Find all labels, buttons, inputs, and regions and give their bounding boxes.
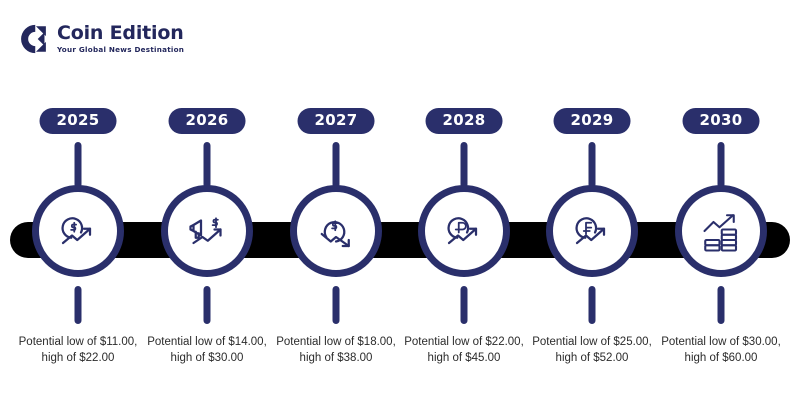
connector-stem-top bbox=[718, 142, 725, 188]
node-caption: Potential low of $18.00, high of $38.00 bbox=[275, 334, 397, 366]
node-caption: Potential low of $14.00, high of $30.00 bbox=[146, 334, 268, 366]
year-badge: 2027 bbox=[298, 108, 375, 134]
timeline-node-circle bbox=[290, 185, 382, 277]
timeline-node-circle bbox=[546, 185, 638, 277]
year-badge: 2030 bbox=[683, 108, 760, 134]
connector-stem-top bbox=[75, 142, 82, 188]
year-badge: 2026 bbox=[169, 108, 246, 134]
timeline-node-2027[interactable]: 2027 Potential low of $18.00, high of $3… bbox=[272, 0, 400, 413]
timeline-node-circle bbox=[418, 185, 510, 277]
timeline-node-2029[interactable]: 2029 Potential low of $25.00, high of $5… bbox=[528, 0, 656, 413]
ruble-circle-up-arrow-icon bbox=[440, 207, 488, 255]
coin-stacks-up-arrow-icon bbox=[697, 207, 745, 255]
node-caption: Potential low of $25.00, high of $52.00 bbox=[531, 334, 653, 366]
dollar-circle-down-arrow-icon bbox=[312, 207, 360, 255]
timeline-node-2028[interactable]: 2028 Potential low of $22.00, high of $4… bbox=[400, 0, 528, 413]
timeline-node-circle bbox=[32, 185, 124, 277]
connector-stem-bottom bbox=[204, 286, 211, 324]
year-badge: 2029 bbox=[554, 108, 631, 134]
megaphone-dollar-up-arrow-icon bbox=[183, 207, 231, 255]
node-caption: Potential low of $30.00, high of $60.00 bbox=[660, 334, 782, 366]
timeline-node-2030[interactable]: 2030 Potential low of $30.00, high of $6… bbox=[657, 0, 785, 413]
dollar-circle-up-arrow-icon bbox=[54, 207, 102, 255]
connector-stem-top bbox=[333, 142, 340, 188]
price-prediction-timeline: 2025 Potential low of $11.00, high of $2… bbox=[0, 0, 800, 413]
year-badge: 2025 bbox=[40, 108, 117, 134]
node-caption: Potential low of $11.00, high of $22.00 bbox=[17, 334, 139, 366]
connector-stem-bottom bbox=[718, 286, 725, 324]
franc-circle-up-arrow-icon bbox=[568, 207, 616, 255]
timeline-node-2026[interactable]: 2026 Potential low of $14.00, high of $3… bbox=[143, 0, 271, 413]
connector-stem-bottom bbox=[461, 286, 468, 324]
timeline-node-2025[interactable]: 2025 Potential low of $11.00, high of $2… bbox=[14, 0, 142, 413]
timeline-node-circle bbox=[675, 185, 767, 277]
year-badge: 2028 bbox=[426, 108, 503, 134]
connector-stem-bottom bbox=[75, 286, 82, 324]
connector-stem-bottom bbox=[333, 286, 340, 324]
timeline-node-circle bbox=[161, 185, 253, 277]
connector-stem-top bbox=[461, 142, 468, 188]
node-caption: Potential low of $22.00, high of $45.00 bbox=[403, 334, 525, 366]
connector-stem-top bbox=[204, 142, 211, 188]
connector-stem-bottom bbox=[589, 286, 596, 324]
connector-stem-top bbox=[589, 142, 596, 188]
